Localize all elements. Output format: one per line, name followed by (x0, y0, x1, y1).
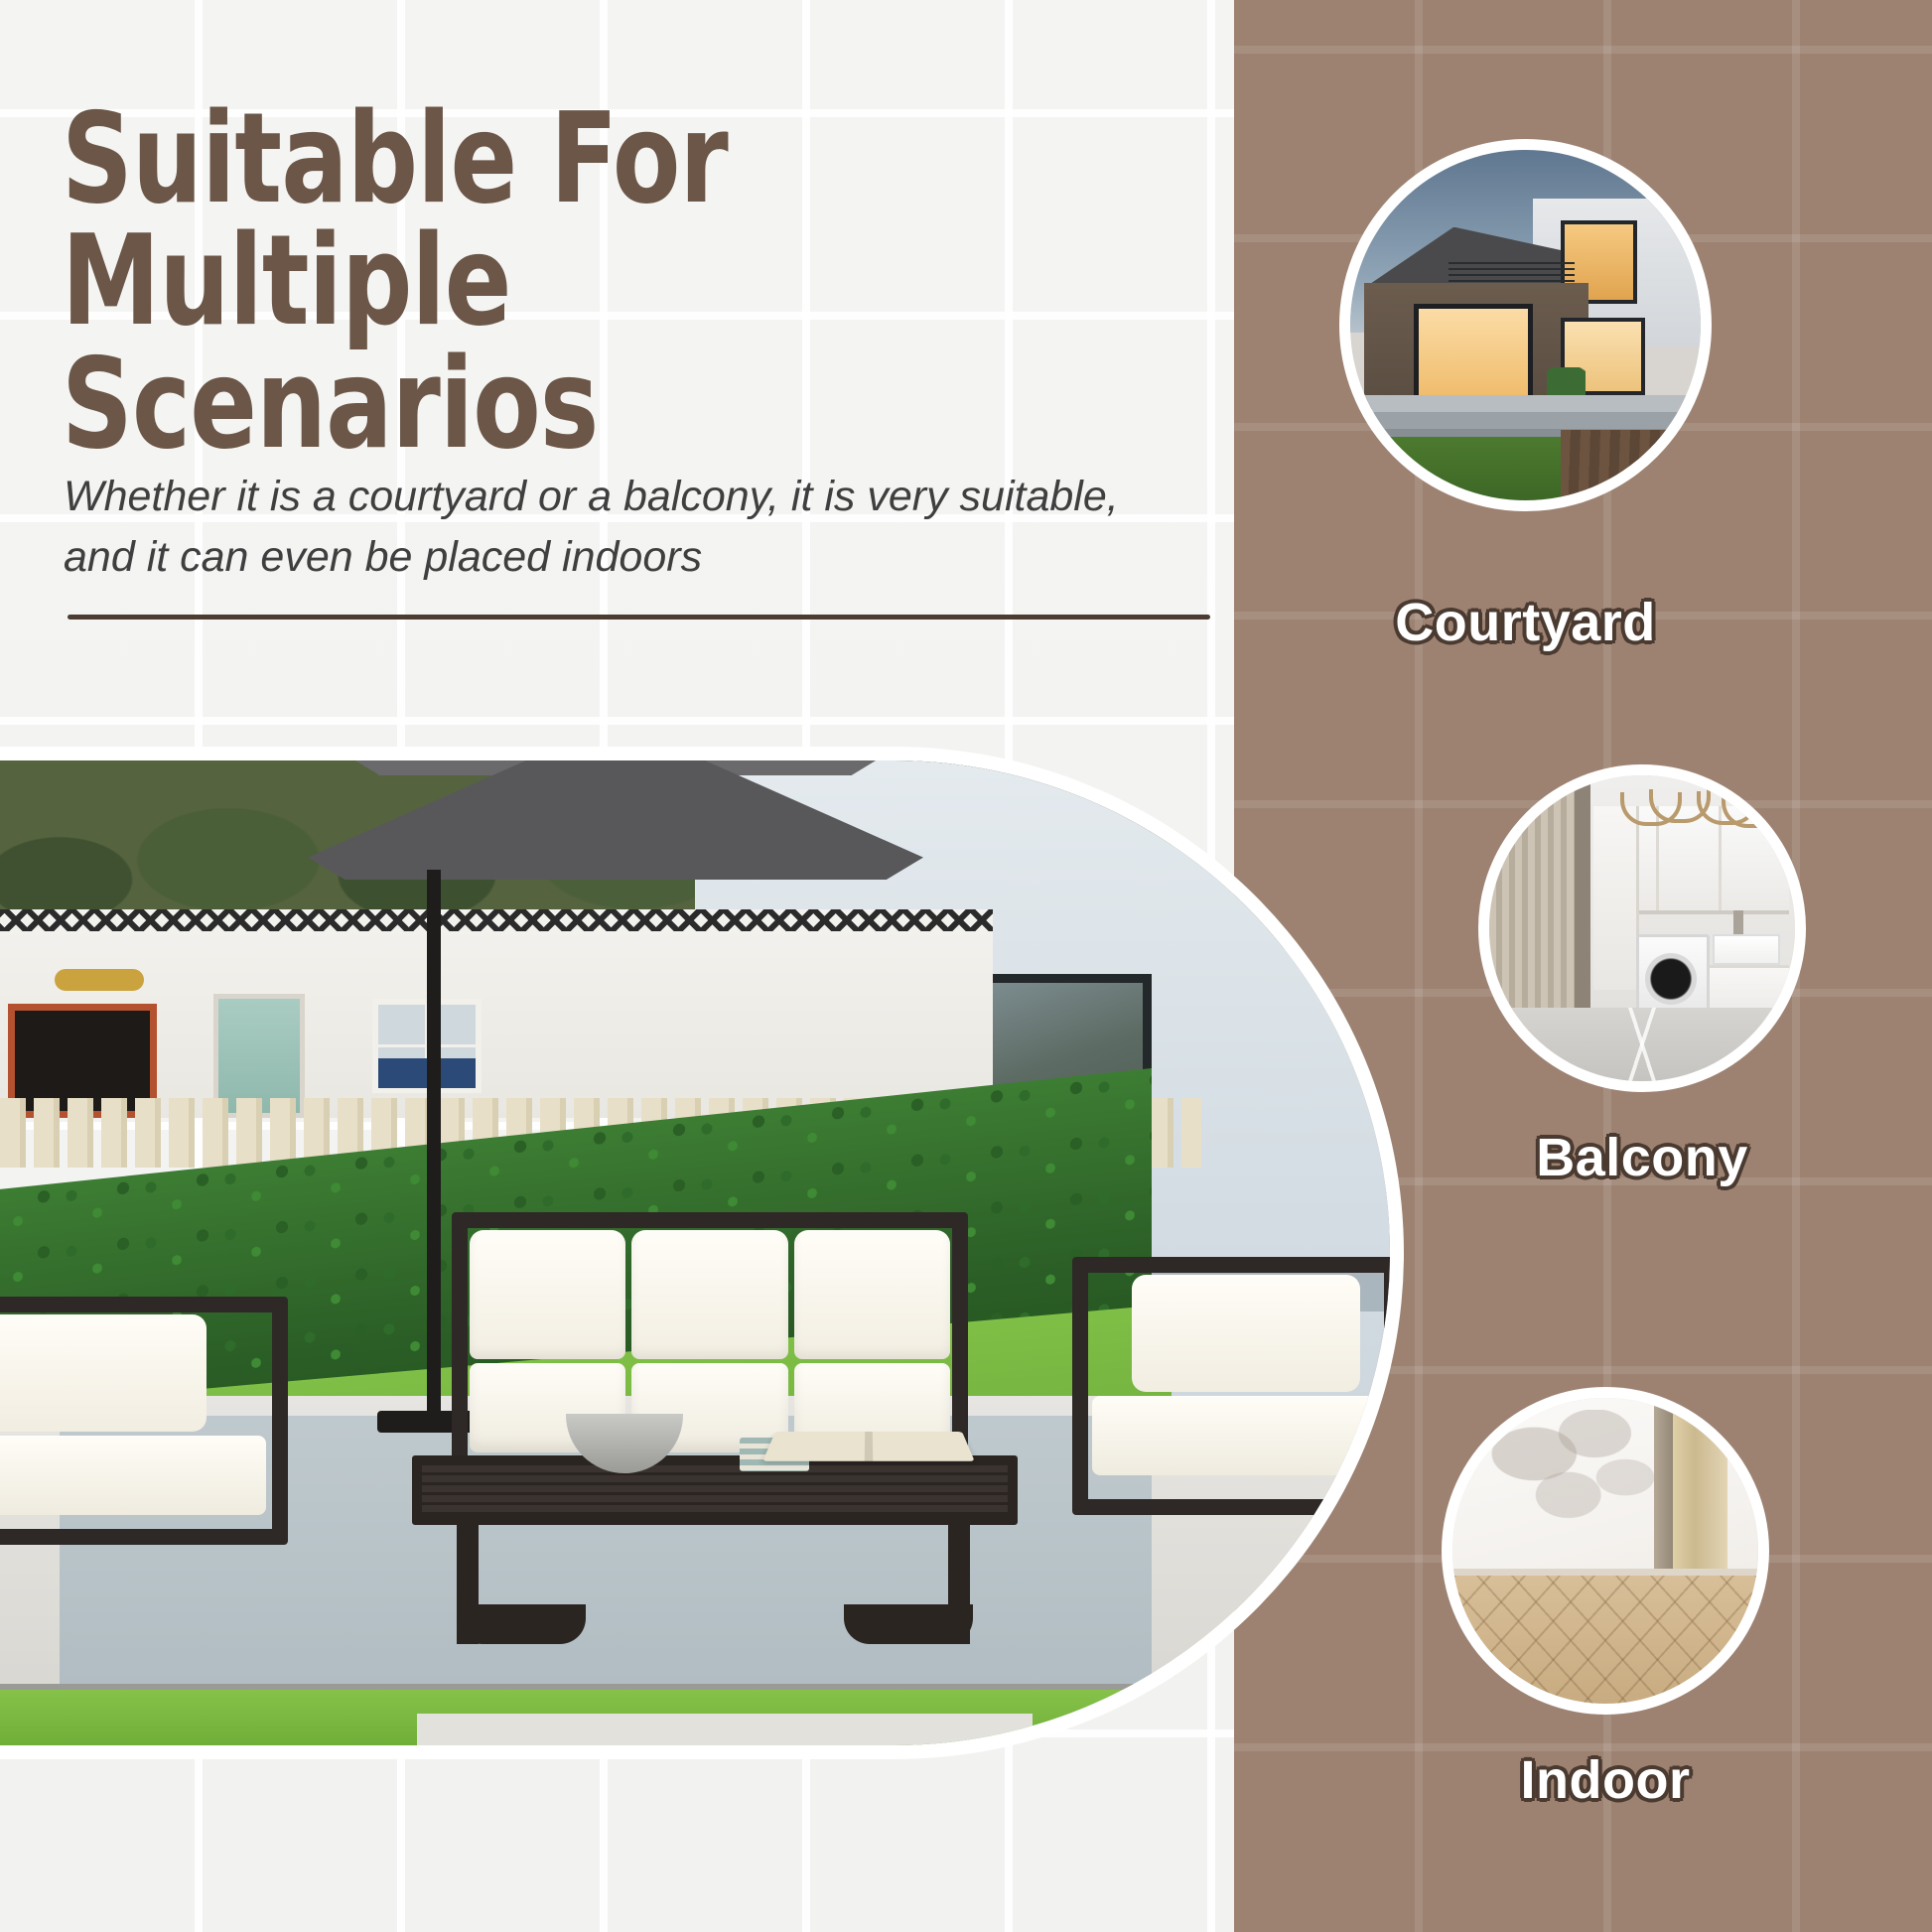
balcony-tall-cabinet (1593, 806, 1639, 990)
decor-open-book (762, 1432, 974, 1461)
coffee-table-foot-left (457, 1604, 586, 1644)
scenario-label-courtyard: Courtyard (1339, 592, 1712, 653)
armchair-seat (1092, 1396, 1380, 1475)
sofa-back-cushion (631, 1230, 787, 1359)
washing-machine-drum-icon (1645, 953, 1697, 1005)
sofa-back-cushion (470, 1230, 625, 1359)
sofa-back-cushion (794, 1230, 950, 1359)
scenario-label-balcony: Balcony (1478, 1127, 1806, 1188)
scenario-image-indoor (1442, 1387, 1769, 1715)
balcony-floor-tiles (1489, 1008, 1795, 1081)
indoor-sunlight-shadow (1477, 1410, 1667, 1557)
courtyard-lawn (1350, 437, 1575, 500)
scenario-image-balcony (1478, 764, 1806, 1092)
main-patio-photo-scene (0, 760, 1390, 1745)
header-divider (68, 615, 1210, 620)
page-subtitle: Whether it is a courtyard or a balcony, … (64, 467, 1146, 588)
main-patio-photo (0, 760, 1390, 1745)
armchair-pillow (0, 1314, 207, 1432)
scenario-label-indoor: Indoor (1442, 1749, 1769, 1811)
armchair-pillow (1132, 1275, 1360, 1392)
page-title: Suitable For Multiple Scenarios (62, 97, 1032, 465)
balcony-curtain (1489, 775, 1581, 1014)
armchair-seat (0, 1436, 266, 1515)
photo-umbrella-pole (427, 870, 441, 1426)
photo-coffee-table (412, 1455, 1018, 1644)
balcony-faucet (1733, 910, 1742, 938)
coffee-table-top (412, 1455, 1018, 1525)
photo-house-sign (55, 969, 144, 991)
photo-right-armchair (1072, 1257, 1390, 1515)
coffee-table-foot-right (844, 1604, 973, 1644)
courtyard-deck (1561, 430, 1701, 500)
balcony-sink (1713, 934, 1780, 965)
scenario-image-courtyard (1339, 139, 1712, 511)
photo-house-zigzag-trim (0, 909, 993, 931)
balcony-door-jamb (1575, 775, 1589, 1014)
indoor-herringbone-pattern (1452, 1576, 1758, 1704)
clothes-hangers (1617, 781, 1758, 824)
sofa-back-cushions (470, 1230, 950, 1359)
photo-walkway (417, 1714, 1033, 1745)
product-infographic: Suitable For Multiple Scenarios Whether … (0, 0, 1932, 1932)
indoor-curtain (1673, 1398, 1727, 1593)
photo-left-armchair (0, 1297, 288, 1545)
courtyard-sliding-door (1414, 304, 1533, 402)
